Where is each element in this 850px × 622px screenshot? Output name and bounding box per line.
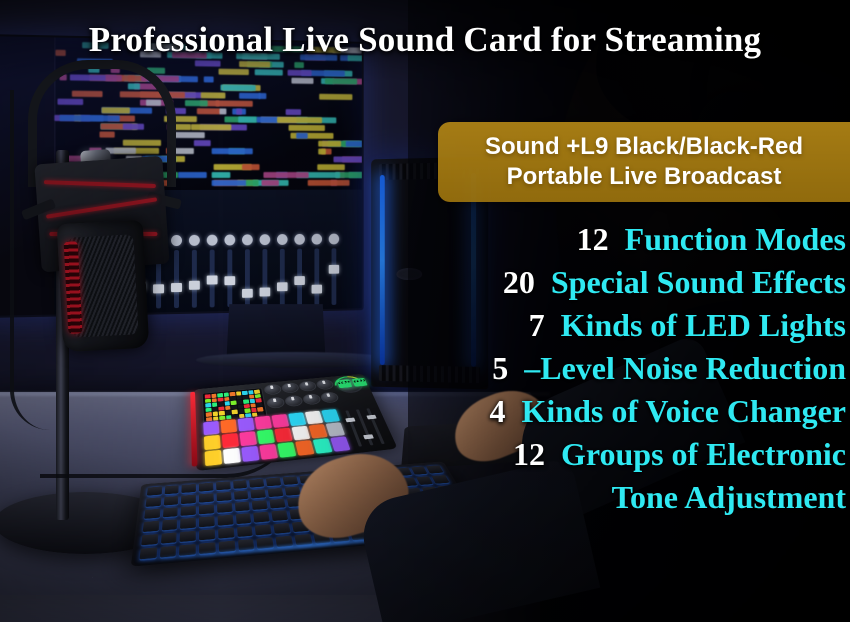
feature-number: 12 xyxy=(577,221,609,257)
banner-line-2: Portable Live Broadcast xyxy=(507,162,782,192)
feature-list: 12Function Modes20Special Sound Effects7… xyxy=(306,218,846,519)
feature-row: 20Special Sound Effects xyxy=(306,261,846,304)
feature-row: 5–Level Noise Reduction xyxy=(306,347,846,390)
feature-label: Function Modes xyxy=(625,221,846,257)
feature-row: 7Kinds of LED Lights xyxy=(306,304,846,347)
feature-label: –Level Noise Reduction xyxy=(524,350,846,386)
feature-number: 7 xyxy=(529,307,545,343)
product-name-banner: Sound +L9 Black/Black-Red Portable Live … xyxy=(438,122,850,202)
feature-label: Kinds of Voice Changer xyxy=(522,393,846,429)
feature-row: 12Function Modes xyxy=(306,218,846,261)
feature-number: 20 xyxy=(503,264,535,300)
feature-row: 12Groups of Electronic xyxy=(306,433,846,476)
feature-label: Special Sound Effects xyxy=(551,264,846,300)
page-title: Professional Live Sound Card for Streami… xyxy=(0,18,850,62)
banner-line-1: Sound +L9 Black/Black-Red xyxy=(485,132,803,162)
feature-label: Kinds of LED Lights xyxy=(561,307,846,343)
feature-label: Tone Adjustment xyxy=(612,476,846,519)
feature-label: Groups of Electronic xyxy=(561,436,846,472)
feature-number: 12 xyxy=(513,436,545,472)
product-poster: Professional Live Sound Card for Streami… xyxy=(0,0,850,622)
feature-row: Tone Adjustment xyxy=(306,476,846,519)
text-overlay: Professional Live Sound Card for Streami… xyxy=(0,0,850,622)
feature-row: 4Kinds of Voice Changer xyxy=(306,390,846,433)
feature-number: 5 xyxy=(492,350,508,386)
feature-number: 4 xyxy=(490,393,506,429)
